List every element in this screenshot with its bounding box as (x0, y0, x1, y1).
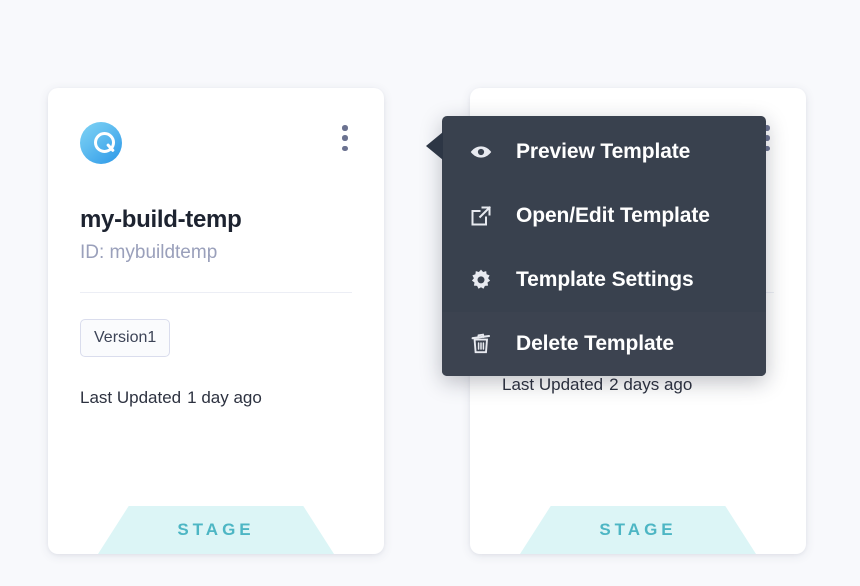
template-card-body: my-build-temp ID: mybuildtemp Version1 L… (48, 88, 384, 408)
gear-icon (468, 267, 494, 293)
last-updated-value: 2 days ago (609, 375, 692, 394)
last-updated: Last Updated2 days ago (502, 375, 774, 395)
external-link-icon (468, 203, 494, 229)
menu-item-template-settings[interactable]: Template Settings (442, 248, 766, 312)
last-updated-label: Last Updated (80, 388, 181, 407)
card-more-options-button[interactable] (334, 122, 356, 154)
kebab-dot (342, 146, 348, 152)
menu-item-label: Delete Template (516, 332, 674, 356)
template-title: my-build-temp (80, 206, 352, 234)
trash-icon (468, 331, 494, 357)
menu-item-delete-template[interactable]: Delete Template (442, 312, 766, 376)
template-search-icon (80, 122, 122, 164)
kebab-dot (342, 135, 348, 141)
page-canvas: my-build-temp ID: mybuildtemp Version1 L… (0, 0, 860, 586)
template-id: ID: mybuildtemp (80, 242, 352, 264)
menu-item-preview-template[interactable]: Preview Template (442, 120, 766, 184)
template-context-menu[interactable]: Preview Template Open/Edit Template Temp… (442, 116, 766, 376)
eye-icon (468, 139, 494, 165)
stage-ribbon: STAGE (98, 506, 334, 554)
stage-label: STAGE (177, 520, 254, 540)
template-card[interactable]: my-build-temp ID: mybuildtemp Version1 L… (48, 88, 384, 554)
menu-item-label: Template Settings (516, 268, 694, 292)
menu-item-label: Preview Template (516, 140, 690, 164)
menu-item-label: Open/Edit Template (516, 204, 710, 228)
menu-item-open-edit-template[interactable]: Open/Edit Template (442, 184, 766, 248)
last-updated-label: Last Updated (502, 375, 603, 394)
stage-ribbon-wrap: STAGE (470, 498, 806, 554)
card-divider (80, 292, 352, 293)
stage-label: STAGE (599, 520, 676, 540)
last-updated: Last Updated1 day ago (80, 388, 352, 408)
version-badge[interactable]: Version1 (80, 319, 170, 357)
last-updated-value: 1 day ago (187, 388, 262, 407)
stage-ribbon: STAGE (520, 506, 756, 554)
stage-ribbon-wrap: STAGE (48, 498, 384, 554)
kebab-dot (342, 125, 348, 131)
context-menu-pointer (426, 132, 443, 160)
